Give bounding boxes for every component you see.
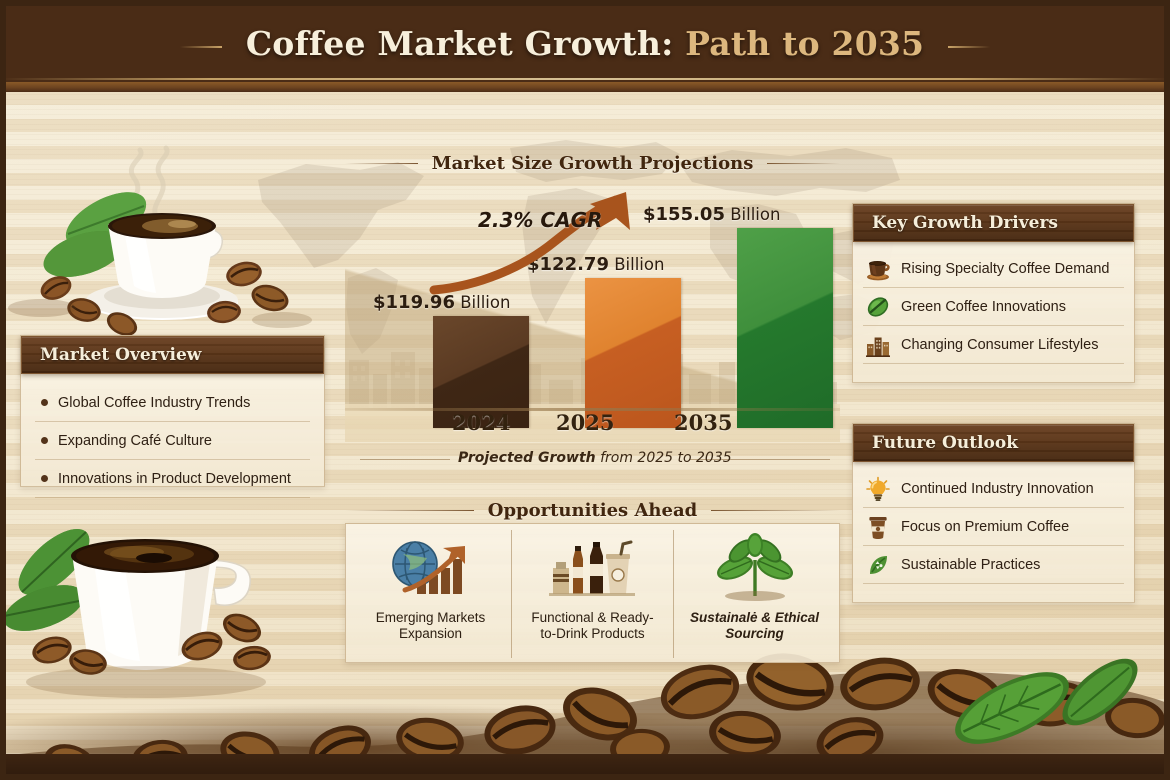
future-outlook-item-label: Continued Industry Innovation — [901, 481, 1094, 497]
market-overview-header: Market Overview — [21, 336, 324, 374]
cagr-label: 2.3% CAGR — [478, 208, 602, 232]
globe-growth-icon — [383, 534, 479, 606]
key-growth-drivers-title: Key Growth Drivers — [854, 213, 1058, 233]
opportunities-panel: Emerging Markets Expansion — [345, 523, 840, 663]
header-band: Coffee Market Growth: Path to 2035 — [0, 0, 1170, 92]
market-overview-panel: Market Overview Global Coffee Industry T… — [20, 335, 325, 487]
bullet-icon — [41, 437, 48, 444]
growth-arrow-icon — [430, 190, 670, 300]
caption-rule-left — [360, 459, 450, 460]
future-outlook-title: Future Outlook — [854, 433, 1018, 453]
key-growth-drivers-body: Rising Specialty Coffee Demand Green Cof… — [853, 242, 1134, 368]
opportunity-card-ready-to-drink[interactable]: Functional & Ready- to-Drink Products — [512, 530, 674, 658]
list-item[interactable]: Sustainable Practices — [863, 546, 1124, 584]
market-overview-item-label: Expanding Café Culture — [58, 433, 212, 449]
key-growth-drivers-item-label: Changing Consumer Lifestyles — [901, 337, 1098, 353]
market-overview-body: Global Coffee Industry Trends Expanding … — [21, 374, 324, 504]
list-item[interactable]: Expanding Café Culture — [35, 422, 310, 460]
ground-strip-decor — [0, 754, 1170, 780]
future-outlook-header: Future Outlook — [853, 424, 1134, 462]
opportunity-card-text: Functional & Ready- to-Drink Products — [531, 610, 653, 642]
opportunity-card-text: Emerging Markets Expansion — [376, 610, 486, 642]
opportunity-card-sustainable-sourcing[interactable]: Sustainalė & Ethical Sourcing — [674, 530, 835, 658]
opportunities-header-label: Opportunities Ahead — [488, 500, 697, 521]
opportunities-grid: Emerging Markets Expansion — [346, 524, 839, 662]
header-gold-rule — [0, 78, 1170, 80]
bottles-icon — [545, 534, 641, 606]
seedling-icon — [707, 534, 803, 606]
list-item[interactable]: Focus on Premium Coffee — [863, 508, 1124, 546]
opportunity-card-text: Sustainalė & Ethical Sourcing — [690, 610, 819, 642]
chart-caption-bold: Projected Growth — [458, 450, 596, 466]
list-item[interactable]: Changing Consumer Lifestyles — [863, 326, 1124, 364]
future-outlook-body: Continued Industry Innovation Focus on P… — [853, 462, 1134, 588]
lightbulb-icon — [865, 476, 891, 502]
x-tick-2024: 2024 — [452, 410, 510, 435]
opportunity-line-1: Functional & Ready- — [531, 610, 653, 626]
green-bean-icon — [865, 294, 891, 320]
chart-caption: Projected Growth from 2025 to 2035 — [458, 450, 732, 466]
leaf-recycle-icon — [865, 552, 891, 578]
market-overview-item-label: Global Coffee Industry Trends — [58, 395, 250, 411]
market-overview-item-label: Innovations in Product Development — [58, 471, 291, 487]
future-outlook-panel: Future Outlook — [852, 423, 1135, 603]
buildings-icon — [865, 332, 891, 358]
key-growth-drivers-item-label: Green Coffee Innovations — [901, 299, 1066, 315]
x-tick-2025: 2025 — [556, 410, 614, 435]
key-growth-drivers-panel: Key Growth Drivers Rising Speci — [852, 203, 1135, 383]
opportunity-line-1: Emerging Markets — [376, 610, 486, 626]
market-overview-title: Market Overview — [22, 345, 201, 365]
list-item[interactable]: Innovations in Product Development — [35, 460, 310, 498]
chart-section-header: Market Size Growth Projections — [345, 150, 840, 176]
chart-header-label: Market Size Growth Projections — [432, 153, 754, 174]
list-item[interactable]: Continued Industry Innovation — [863, 470, 1124, 508]
page-title: Coffee Market Growth: Path to 2035 — [0, 24, 1170, 63]
opportunity-line-2: Sourcing — [690, 626, 819, 642]
opportunity-line-1: Sustainalė & Ethical — [690, 610, 819, 626]
chart-header-rule-left — [345, 163, 418, 164]
list-item[interactable]: Rising Specialty Coffee Demand — [863, 250, 1124, 288]
bar-2035 — [737, 228, 833, 428]
key-growth-drivers-header: Key Growth Drivers — [853, 204, 1134, 242]
opportunity-line-2: Expansion — [376, 626, 486, 642]
bullet-icon — [41, 475, 48, 482]
bar-2025 — [585, 278, 681, 428]
bar-value-2035-unit: Billion — [725, 205, 780, 224]
x-tick-2035: 2035 — [674, 410, 732, 435]
list-item[interactable]: Global Coffee Industry Trends — [35, 384, 310, 422]
opportunity-line-2: to-Drink Products — [531, 626, 653, 642]
list-item[interactable]: Green Coffee Innovations — [863, 288, 1124, 326]
header-base-strip — [0, 82, 1170, 92]
opportunity-card-emerging-markets[interactable]: Emerging Markets Expansion — [350, 530, 512, 658]
opportunities-section-header: Opportunities Ahead — [345, 497, 840, 523]
chart-header-rule-right — [767, 163, 840, 164]
future-outlook-item-label: Sustainable Practices — [901, 557, 1040, 573]
chart-caption-rest: from 2025 to 2035 — [596, 450, 732, 466]
opportunities-header-rule-left — [345, 510, 474, 511]
togo-cup-icon — [865, 514, 891, 540]
key-growth-drivers-item-label: Rising Specialty Coffee Demand — [901, 261, 1109, 277]
page-title-accent: Path to 2035 — [673, 24, 924, 63]
future-outlook-item-label: Focus on Premium Coffee — [901, 519, 1069, 535]
infographic-root: Coffee Market Growth: Path to 2035 Marke… — [0, 0, 1170, 780]
bullet-icon — [41, 399, 48, 406]
opportunities-header-rule-right — [711, 510, 840, 511]
coffee-cup-icon — [865, 256, 891, 282]
coffee-cup-photo-top — [12, 150, 312, 340]
page-title-main: Coffee Market Growth: — [246, 24, 674, 63]
